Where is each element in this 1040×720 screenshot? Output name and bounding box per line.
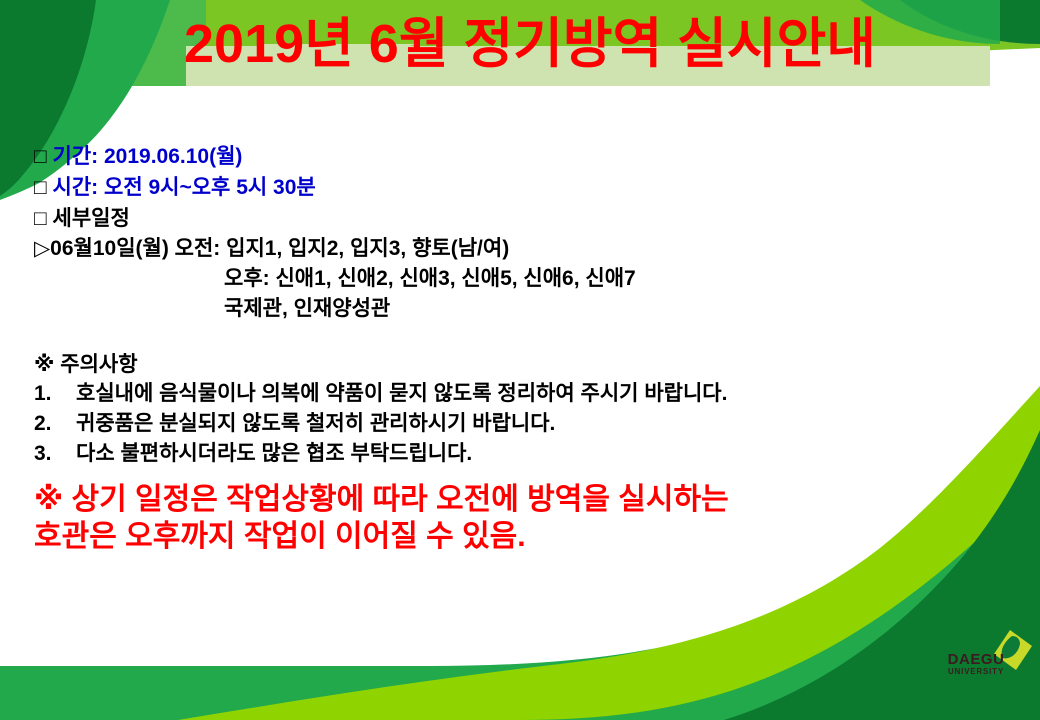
university-logo: DAEGU UNIVERSITY (938, 628, 1036, 690)
info-line-period: □ 기간: 2019.06.10(월) (34, 146, 1024, 167)
cautions-heading: ※ 주의사항 (34, 354, 1024, 375)
caution-number: 1. (34, 383, 76, 404)
caution-text: 호실내에 음식물이나 의복에 약품이 묻지 않도록 정리하여 주시기 바랍니다. (76, 382, 727, 405)
warning-line-1: ※ 상기 일정은 작업상황에 따라 오전에 방역을 실시하는 (34, 482, 1024, 519)
info-period-text: 기간: 2019.06.10(월) (53, 145, 243, 168)
section-heading-schedule: □ 세부일정 (34, 208, 1024, 229)
logo-wordmark: DAEGU UNIVERSITY (938, 652, 1014, 676)
caution-number: 3. (34, 443, 76, 464)
schedule-line-afternoon: 오후: 신애1, 신애2, 신애3, 신애5, 신애6, 신애7 (34, 268, 1024, 289)
square-bullet-icon: □ (34, 176, 47, 199)
schedule-afternoon-text: 오후: 신애1, 신애2, 신애3, 신애5, 신애6, 신애7 (224, 267, 636, 290)
spacer (34, 328, 1024, 354)
info-time-text: 시간: 오전 9시~오후 5시 30분 (53, 176, 316, 199)
schedule-line-extra: 국제관, 인재양성관 (34, 298, 1024, 319)
info-line-time: □ 시간: 오전 9시~오후 5시 30분 (34, 177, 1024, 198)
square-bullet-icon: □ (34, 207, 47, 230)
caution-item-3: 3.다소 불편하시더라도 많은 협조 부탁드립니다. (34, 443, 1024, 464)
square-bullet-icon: □ (34, 145, 47, 168)
caution-item-2: 2.귀중품은 분실되지 않도록 철저히 관리하시기 바랍니다. (34, 413, 1024, 434)
warning-notice: ※ 상기 일정은 작업상황에 따라 오전에 방역을 실시하는 호관은 오후까지 … (34, 482, 1024, 555)
section-heading-text: 세부일정 (53, 207, 130, 230)
page-title: 2019년 6월 정기방역 실시안내 (164, 17, 876, 75)
logo-name: DAEGU (938, 652, 1014, 667)
slide-body: □ 기간: 2019.06.10(월) □ 시간: 오전 9시~오후 5시 30… (34, 146, 1024, 555)
logo-subtitle: UNIVERSITY (938, 668, 1014, 676)
schedule-extra-text: 국제관, 인재양성관 (224, 297, 390, 320)
caution-text: 귀중품은 분실되지 않도록 철저히 관리하시기 바랍니다. (76, 412, 555, 435)
warning-line-2: 호관은 오후까지 작업이 이어질 수 있음. (34, 519, 1024, 556)
slide-canvas: 2019년 6월 정기방역 실시안내 □ 기간: 2019.06.10(월) □… (0, 0, 1040, 720)
schedule-morning-text: 06월10일(월) 오전: 입지1, 입지2, 입지3, 향토(남/여) (50, 237, 509, 260)
caution-item-1: 1.호실내에 음식물이나 의복에 약품이 묻지 않도록 정리하여 주시기 바랍니… (34, 383, 1024, 404)
triangle-bullet-icon: ▷ (34, 237, 50, 260)
caution-text: 다소 불편하시더라도 많은 협조 부탁드립니다. (76, 442, 472, 465)
schedule-line-morning: ▷06월10일(월) 오전: 입지1, 입지2, 입지3, 향토(남/여) (34, 238, 1024, 259)
slide-title-bar: 2019년 6월 정기방역 실시안내 (0, 0, 1040, 92)
caution-number: 2. (34, 413, 76, 434)
